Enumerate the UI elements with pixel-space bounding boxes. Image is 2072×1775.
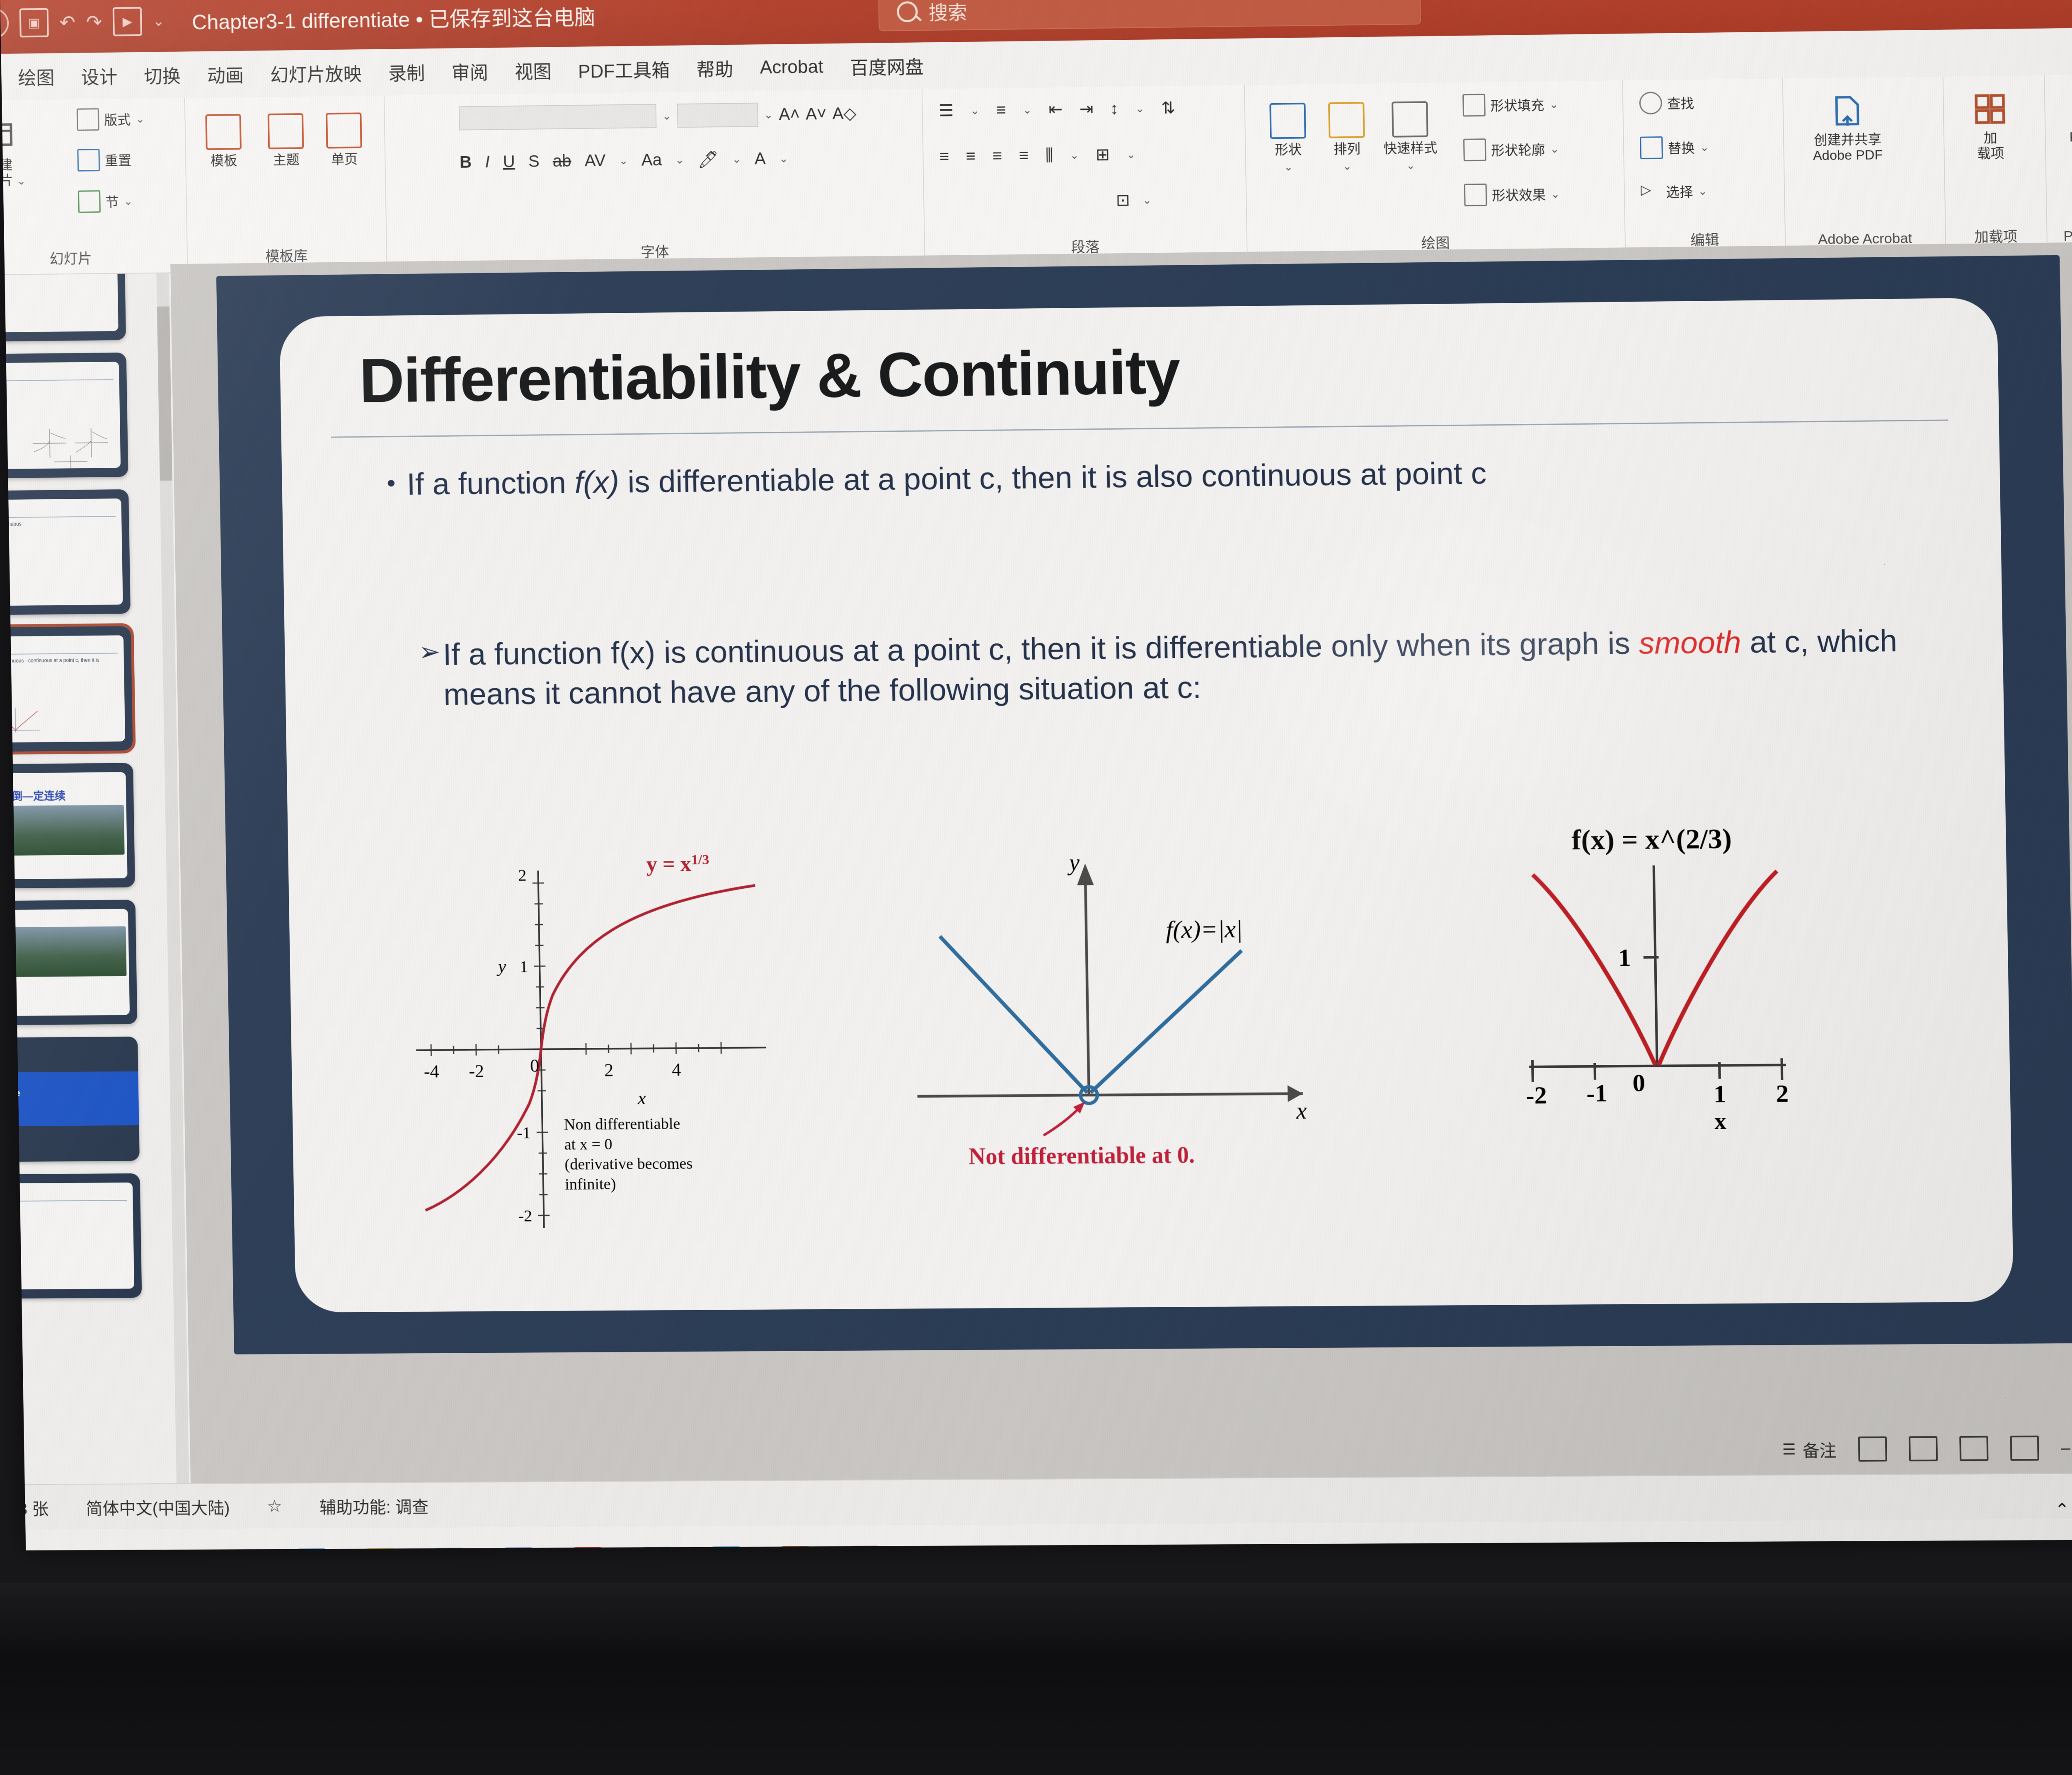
addins-label-2: 载项 <box>1977 145 2004 161</box>
text-highlight-button[interactable]: 🖊 <box>697 150 719 169</box>
tab-acrobat[interactable]: Acrobat <box>746 56 837 78</box>
thumbnail-title: ity & Continuity <box>0 366 114 379</box>
x-tick-2: 2 <box>604 1060 614 1080</box>
tab-view[interactable]: 视图 <box>501 57 565 84</box>
shapes-label: 形状 <box>1275 142 1302 158</box>
bullet-1-italic: f(x) <box>574 465 620 500</box>
template-button[interactable]: 模板 <box>205 114 242 169</box>
curve-label: f(x)=|x| <box>1166 915 1243 943</box>
laptop-screen: 关 ▣ ↶ ↷ ▶ ⌄ Chapter3-1 differentiate • 已… <box>0 0 2072 1550</box>
graph-abs-value: y x f(x)=|x| Not differentiable at 0. <box>905 843 1329 1178</box>
graph-two-thirds-power: f(x) = x^(2/3) 1 -2 -1 0 1 2 x <box>1491 814 1817 1136</box>
replace-label: 替换 <box>1668 138 1695 157</box>
laptop-base <box>0 1583 2072 1775</box>
template-icon <box>205 114 242 150</box>
tab-slideshow[interactable]: 幻灯片放映 <box>257 59 375 87</box>
ribbon-group-drawing: 形状 ⌄ 排列 ⌄ 快速样式 ⌄ 形状填充 ⌄ <box>1244 80 1626 260</box>
thumbnail-slide[interactable]: y & Continuity differentiable at a point… <box>0 489 131 616</box>
section-icon <box>78 190 101 213</box>
chevron-down-icon[interactable]: ⌄ <box>1135 102 1145 115</box>
thumbnail-graphs <box>29 420 116 466</box>
cursor-icon: ▷ <box>1641 181 1661 202</box>
group-title-slides: 幻灯片 <box>0 246 187 269</box>
clear-formatting-button[interactable]: A◇ <box>832 104 857 123</box>
shape-effects-icon <box>1464 184 1487 206</box>
x-tick-neg1-mark <box>1595 1063 1595 1080</box>
x-tick-neg2: -2 <box>1526 1081 1547 1109</box>
slide-title[interactable]: Differentiability & Continuity <box>359 336 1180 417</box>
y-axis-label: y <box>496 956 506 976</box>
align-text-button[interactable]: ⊞ <box>1096 145 1110 164</box>
theme-button[interactable]: 主题 <box>268 113 304 168</box>
tab-pdf-toolbox[interactable]: PDF工具箱 <box>564 56 683 84</box>
align-right-button[interactable]: ≡ <box>992 147 1002 165</box>
x-tick-2-mark <box>1782 1058 1782 1080</box>
graph-cube-root: 2 1 -1 -2 -4 -2 0 2 4 y x y = x1/3 <box>405 860 778 1239</box>
powerpoint-window: 关 ▣ ↶ ↷ ▶ ⌄ Chapter3-1 differentiate • 已… <box>0 0 2072 1550</box>
select-button[interactable]: ▷ 选择 ⌄ <box>1641 181 1707 202</box>
justify-button[interactable]: ≡ <box>1019 146 1029 165</box>
ribbon-group-acrobat: 创建并共享 Adobe PDF Adobe Acrobat <box>1782 77 1946 254</box>
bullets-button[interactable]: ☰ <box>939 101 954 121</box>
x-tick-1-mark <box>1719 1062 1720 1079</box>
addins-icon <box>1971 91 2008 127</box>
chevron-down-icon[interactable]: ⌄ <box>136 112 145 125</box>
create-pdf-icon <box>1829 92 1866 129</box>
notes-icon: ☰ <box>1782 1441 1796 1458</box>
quick-styles-button[interactable]: 快速样式 ⌄ <box>1383 101 1438 172</box>
strikethrough-button[interactable]: ab <box>553 152 571 171</box>
shape-outline-label: 形状轮廓 <box>1491 140 1545 160</box>
align-left-button[interactable]: ≡ <box>939 147 949 166</box>
single-page-label: 单页 <box>331 152 358 167</box>
convert-smartart-button[interactable]: ⊡ <box>1116 191 1130 210</box>
create-share-label-1: 创建并共享 <box>1814 132 1882 148</box>
ribbon-group-addins: 加 载项 加载项 <box>1943 75 2048 252</box>
theme-icon <box>268 113 304 149</box>
chevron-down-icon[interactable]: ⌄ <box>1343 160 1352 172</box>
chevron-down-icon[interactable]: ⌄ <box>152 14 165 28</box>
tab-transitions[interactable]: 切换 <box>131 61 194 89</box>
x-tick-0: 0 <box>530 1055 540 1076</box>
shapes-button[interactable]: 形状 ⌄ <box>1269 103 1307 174</box>
annotation-line-3: (derivative becomes <box>564 1155 692 1173</box>
reset-icon <box>77 149 100 172</box>
x-tick-neg4: -4 <box>424 1061 439 1081</box>
curve-label: f(x) = x^(2/3) <box>1571 822 1732 856</box>
chevron-down-icon[interactable]: ⌄ <box>662 109 671 122</box>
ribbon-group-pdf-toolbox: PDF PDF转换 ⌄ PDF工具箱 <box>2044 74 2072 251</box>
shape-effects-label: 形状效果 <box>1492 184 1546 204</box>
text-direction-button[interactable]: ⇅ <box>1161 99 1176 118</box>
y-tick-neg1: -1 <box>517 1123 531 1142</box>
find-label: 查找 <box>1667 93 1694 112</box>
y-tick-2: 2 <box>518 866 527 884</box>
reset-label: 重置 <box>104 150 131 169</box>
chevron-down-icon[interactable]: ⌄ <box>779 152 788 165</box>
shapes-icon <box>1269 103 1306 139</box>
arrange-icon <box>1328 102 1365 138</box>
bullet-2-pre: If a function f(x) is continuous at a po… <box>443 626 1639 672</box>
y-axis-label: y <box>1067 850 1080 876</box>
pdf-convert-label: PDF转换 <box>2070 129 2072 145</box>
search-icon <box>897 1 918 22</box>
thumbnail-slide-selected[interactable]: & Continuity differentiable at a point c… <box>0 626 133 752</box>
ribbon-group-template-library: 模板 主题 单页 模板库 <box>184 96 387 272</box>
chevron-down-icon[interactable]: ⌄ <box>619 154 628 167</box>
thumbnail-slide[interactable]: lity & Continuity f'(a)=limx→a (f(x)−f(a… <box>0 273 126 343</box>
layout-icon <box>77 108 99 131</box>
curve-abs-left <box>940 935 1087 1094</box>
thumbnail-title: Continuity <box>0 774 123 787</box>
x-axis-label: x <box>1296 1098 1307 1124</box>
tray-expand-icon[interactable]: ⌃ <box>2055 1499 2070 1520</box>
thumbnail-slide[interactable]: Continuity 可倒—定连续 <box>0 763 135 889</box>
accessibility-label[interactable]: 辅助功能: 调查 <box>319 1494 428 1518</box>
bullet-1-post: is differentiable at a point c, then it … <box>619 456 1486 499</box>
slide-bullet-1[interactable]: •If a function f(x) is differentiable at… <box>407 449 1924 504</box>
quick-styles-icon <box>1392 101 1428 138</box>
single-page-icon <box>326 112 362 148</box>
curve-right <box>1656 871 1780 1065</box>
chevron-down-icon[interactable]: ⌄ <box>17 174 26 187</box>
create-share-label-2: Adobe PDF <box>1813 147 1883 163</box>
thumbnail-slide[interactable]: ity & Continuity is in the domain of f <box>0 353 128 479</box>
new-slide-icon <box>0 117 18 155</box>
shape-fill-icon <box>1462 94 1486 116</box>
bullet-marker: • <box>387 467 396 499</box>
replace-icon <box>1640 136 1663 159</box>
underline-button[interactable]: U <box>503 152 515 171</box>
chevron-down-icon[interactable]: ⌄ <box>675 153 684 166</box>
curve-left <box>1533 874 1656 1066</box>
ribbon-group-slides: 新建 幻灯片 ⌄ 版式 ⌄ 重置 节 ⌄ 幻灯 <box>0 98 188 275</box>
document-title: Chapter3-1 differentiate • 已保存到这台电脑 <box>192 1 595 36</box>
chevron-down-icon[interactable]: ⌄ <box>1284 161 1293 173</box>
slide-thumbnail-pane[interactable]: lity & Continuity f'(a)=limx→a (f(x)−f(a… <box>0 273 191 1497</box>
bullet-2-emphasis: smooth <box>1639 625 1741 660</box>
chevron-down-icon[interactable]: ⌄ <box>1700 140 1709 154</box>
bullet-1-pre: If a function <box>407 465 575 501</box>
thumbnail-slide[interactable]: Continuity <box>0 900 137 1025</box>
x-axis-label: x <box>1714 1108 1727 1134</box>
create-share-pdf-button[interactable]: 创建并共享 Adobe PDF <box>1812 92 1883 163</box>
tab-animations[interactable]: 动画 <box>194 60 257 88</box>
italic-button[interactable]: I <box>485 153 490 172</box>
font-name-input[interactable] <box>459 104 656 131</box>
ribbon: 新建 幻灯片 ⌄ 版式 ⌄ 重置 节 ⌄ 幻灯 <box>0 71 2072 276</box>
slide-sorter-button[interactable] <box>1909 1436 1938 1461</box>
thumbnail-title: Continuity <box>0 912 126 924</box>
addins-label-1: 加 <box>1984 130 1997 145</box>
arrange-label: 排列 <box>1334 141 1360 157</box>
change-case-button[interactable]: Aa <box>641 151 662 170</box>
tab-draw[interactable]: 绘图 <box>5 63 68 90</box>
thumbnail-title: Formulas of Derivative <box>0 1086 138 1100</box>
thumbnail-title: & Continuity <box>0 639 118 652</box>
x-axis <box>917 1093 1303 1096</box>
zoom-out-button[interactable]: – <box>2061 1439 2070 1458</box>
columns-button[interactable]: ⫼ <box>1045 146 1053 164</box>
chevron-down-icon[interactable]: ⌄ <box>1023 103 1032 116</box>
font-color-button[interactable]: A <box>755 150 766 168</box>
tab-help[interactable]: 帮助 <box>683 55 747 82</box>
reset-button[interactable]: 重置 <box>77 148 131 172</box>
tab-baidu-netdisk[interactable]: 百度网盘 <box>836 52 937 80</box>
quick-styles-label: 快速样式 <box>1383 140 1437 157</box>
chevron-down-icon[interactable]: ⌄ <box>1550 143 1559 155</box>
x-tick-2: 2 <box>1776 1080 1789 1108</box>
title-divider <box>331 420 1948 438</box>
pdf-convert-button[interactable]: PDF PDF转换 ⌄ <box>2069 89 2072 161</box>
shape-fill-button[interactable]: 形状填充 ⌄ <box>1462 93 1559 116</box>
character-spacing-button[interactable]: AV <box>584 152 605 171</box>
line-spacing-button[interactable]: ↕ <box>1110 99 1119 118</box>
x-tick-neg1: -1 <box>1586 1079 1608 1107</box>
laptop-photo: 关 ▣ ↶ ↷ ▶ ⌄ Chapter3-1 differentiate • 已… <box>0 0 2072 1775</box>
thumbnail-slide[interactable]: Formulas of Derivative 导公式 <box>0 1037 140 1163</box>
thumbnail-subtitle: 导公式 <box>0 1098 139 1112</box>
slide-bullet-2[interactable]: ➢If a function f(x) is continuous at a p… <box>443 621 1919 715</box>
shape-fill-label: 形状填充 <box>1490 95 1544 115</box>
chevron-down-icon[interactable]: ⌄ <box>1551 188 1560 201</box>
accessibility-icon: ☆ <box>267 1497 282 1516</box>
x-axis-label: x <box>637 1088 646 1108</box>
search-placeholder: 搜索 <box>928 0 967 25</box>
y-tick-1: 1 <box>1618 944 1631 972</box>
curve-label: y = x1/3 <box>646 852 709 876</box>
thumbnail-caption: 可倒—定连续 <box>0 787 124 804</box>
normal-view-button[interactable] <box>1858 1436 1887 1462</box>
chevron-down-icon[interactable]: ⌄ <box>1126 148 1136 161</box>
layout-button[interactable]: 版式 ⌄ <box>77 108 145 131</box>
x-tick-0: 0 <box>1632 1069 1646 1097</box>
autosave-toggle[interactable]: 关 <box>0 8 9 39</box>
chevron-down-icon[interactable]: ⌄ <box>1698 184 1707 198</box>
template-label: 模板 <box>211 153 237 169</box>
chevron-down-icon[interactable]: ⌄ <box>1143 193 1152 206</box>
slide-frame: Differentiability & Continuity •If a fun… <box>216 255 2072 1354</box>
thumbnail-body: is in the domain of f <box>0 382 114 391</box>
search-icon <box>1639 92 1662 114</box>
theme-label: 主题 <box>273 152 300 168</box>
notes-button[interactable]: ☰ 备注 <box>1782 1437 1837 1461</box>
increase-font-size-button[interactable]: A˄ <box>779 105 800 124</box>
increase-indent-button[interactable]: ⇥ <box>1079 99 1094 119</box>
start-slideshow-icon[interactable]: ▶ <box>113 7 142 36</box>
tab-design[interactable]: 设计 <box>68 62 131 89</box>
x-tick-1: 1 <box>1714 1080 1727 1108</box>
chevron-down-icon[interactable]: ⌄ <box>1406 159 1416 172</box>
arrange-button[interactable]: 排列 ⌄ <box>1328 102 1365 173</box>
shape-outline-button[interactable]: 形状轮廓 ⌄ <box>1463 138 1559 161</box>
chevron-down-icon[interactable]: ⌄ <box>764 108 773 121</box>
y-tick-1: 1 <box>520 957 528 976</box>
numbering-button[interactable]: ≡ <box>996 101 1006 120</box>
thumbnail-formula: (f(x) − f(a)) / (x − a) x→a <box>0 531 116 539</box>
shape-effects-button[interactable]: 形状效果 ⌄ <box>1464 183 1560 206</box>
single-page-button[interactable]: 单页 <box>326 112 362 167</box>
section-button[interactable]: 节 ⌄ <box>78 190 133 213</box>
ribbon-group-paragraph: ☰⌄ ≡⌄ ⇤ ⇥ ↕⌄ ⇅ ≡ ≡ ≡ ≡ ⫼⌄ ⊞⌄ ⊡⌄ <box>922 85 1248 264</box>
chevron-down-icon[interactable]: ⌄ <box>1549 98 1559 111</box>
annotation-line-1: Non differentiable <box>564 1115 680 1133</box>
notes-label: 备注 <box>1802 1437 1836 1461</box>
annotation: Not differentiable at 0. <box>968 1142 1195 1170</box>
annotation-line-2: at x = 0 <box>564 1136 612 1154</box>
tab-review[interactable]: 审阅 <box>438 58 502 85</box>
x-tick-neg2: -2 <box>469 1061 484 1081</box>
chevron-down-icon[interactable]: ⌄ <box>123 195 133 208</box>
find-button[interactable]: 查找 <box>1639 91 1694 114</box>
section-label: 节 <box>105 192 119 211</box>
chevron-down-icon[interactable]: ⌄ <box>732 153 741 166</box>
ribbon-group-font: ⌄ ⌄ A˄ A˅ A◇ B I U S ab AV ⌄ Aa ⌄ <box>384 89 925 270</box>
scrollbar-thumb[interactable] <box>157 306 172 481</box>
thumbnail-body: differentiable at a point c, then it is … <box>0 656 118 673</box>
ribbon-group-editing: 查找 替换 ⌄ ▷ 选择 ⌄ 编辑 <box>1622 78 1786 256</box>
chevron-down-icon[interactable]: ⌄ <box>1070 149 1079 162</box>
text-shadow-button[interactable]: S <box>528 152 540 171</box>
thumbnail-title: y & Continuity <box>0 503 116 515</box>
system-tray: ⌃ ☁ 中 📶 🔇 🔋 15:28 2025/9/30 <box>2055 1488 2072 1530</box>
bold-button[interactable]: B <box>460 153 472 172</box>
x-tick-4: 4 <box>672 1059 681 1080</box>
curve-abs-right <box>1088 950 1244 1093</box>
slide-canvas-area: Differentiability & Continuity •If a fun… <box>170 241 2072 1483</box>
align-center-button[interactable]: ≡ <box>966 147 975 165</box>
thumbnail-body: differentiable at a point c, then it is … <box>0 519 116 529</box>
y-axis <box>1085 874 1089 1095</box>
decrease-font-size-button[interactable]: A˅ <box>806 104 827 123</box>
thumbnail-slide[interactable]: f Derivative <box>0 1173 142 1299</box>
redo-icon[interactable]: ↷ <box>86 12 102 32</box>
select-label: 选择 <box>1666 181 1693 201</box>
decrease-indent-button[interactable]: ⇤ <box>1048 100 1063 119</box>
save-icon[interactable]: ▣ <box>19 8 49 38</box>
thumbnail-image <box>0 926 127 978</box>
slide[interactable]: Differentiability & Continuity •If a fun… <box>279 297 2014 1312</box>
tab-record[interactable]: 录制 <box>375 58 438 86</box>
undo-icon[interactable]: ↶ <box>59 13 75 32</box>
new-slide-button[interactable]: 新建 幻灯片 ⌄ <box>0 116 26 188</box>
slideshow-button[interactable] <box>2010 1436 2039 1461</box>
reading-view-button[interactable] <box>1959 1436 1988 1461</box>
addins-button[interactable]: 加 载项 <box>1971 91 2009 161</box>
layout-label: 版式 <box>104 109 131 129</box>
group-title-pdf-toolbox: PDF工具箱 <box>2046 223 2072 245</box>
chevron-down-icon[interactable]: ⌄ <box>970 104 980 117</box>
x-axis <box>416 1047 766 1050</box>
y-axis <box>1654 866 1657 1066</box>
font-size-input[interactable] <box>677 103 758 128</box>
status-bar-right: ☰ 备注 – + 105% ⛶ <box>1455 1421 2072 1476</box>
arrow-marker: ➢ <box>419 636 441 669</box>
x-tick-neg2-mark <box>1532 1060 1533 1082</box>
replace-button[interactable]: 替换 ⌄ <box>1640 136 1709 159</box>
shape-outline-icon <box>1463 138 1486 161</box>
y-tick-neg2: -2 <box>518 1207 532 1225</box>
language-indicator[interactable]: 简体中文(中国大陆) <box>86 1494 230 1519</box>
thumbnail-image <box>0 805 125 856</box>
annotation-line-4: infinite) <box>565 1175 616 1193</box>
